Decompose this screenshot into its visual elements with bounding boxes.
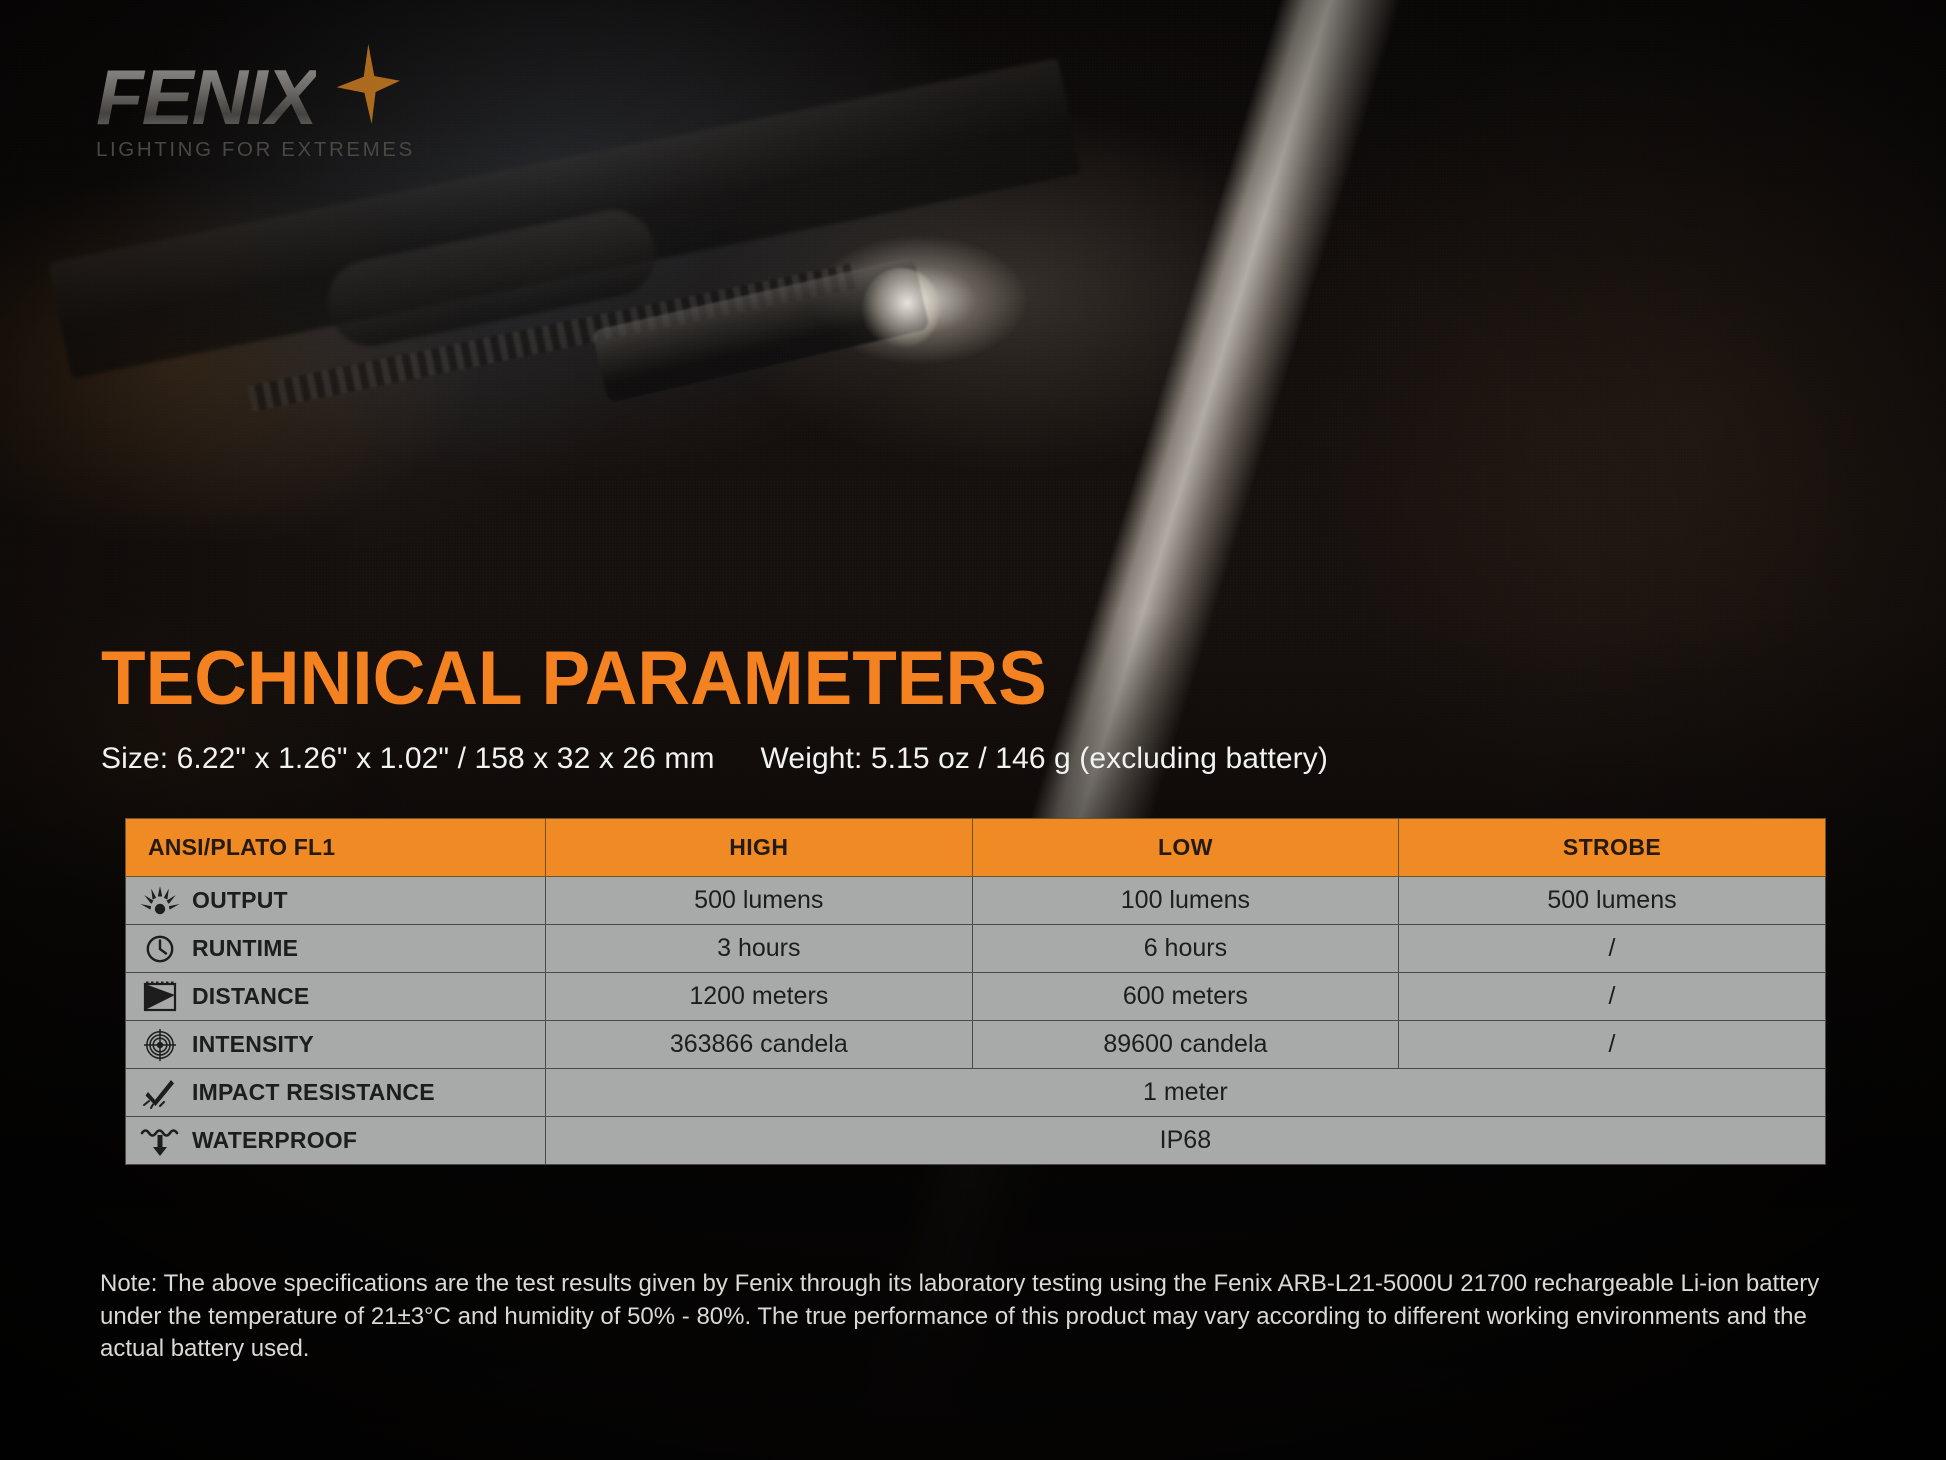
column-header-standard: ANSI/PLATO FL1 — [126, 819, 546, 877]
cell-waterproof-value: IP68 — [546, 1117, 1826, 1165]
logo-tagline: LIGHTING FOR EXTREMES — [96, 138, 456, 162]
specifications-table: ANSI/PLATO FL1 HIGH LOW STROBE — [125, 818, 1826, 1165]
weight-text: Weight: 5.15 oz / 146 g (excluding batte… — [761, 742, 1328, 775]
fenix-logo: FENIX LIGHTING FOR EXTREMES — [96, 62, 456, 162]
cell-intensity-low: 89600 candela — [972, 1021, 1399, 1069]
column-header-high: HIGH — [546, 819, 973, 877]
table-row: DISTANCE 1200 meters 600 meters / — [126, 973, 1826, 1021]
cell-distance-strobe: / — [1399, 973, 1826, 1021]
beam-icon — [140, 980, 180, 1014]
logo-wordmark: FENIX — [96, 62, 316, 134]
waterproof-icon — [140, 1124, 180, 1158]
cell-runtime-strobe: / — [1399, 925, 1826, 973]
cell-distance-low: 600 meters — [972, 973, 1399, 1021]
footnote: Note: The above specifications are the t… — [100, 1268, 1830, 1366]
row-label-text: OUTPUT — [192, 887, 288, 914]
row-label-impact-resistance: IMPACT RESISTANCE — [126, 1069, 546, 1117]
table-row: INTENSITY 363866 candela 89600 candela / — [126, 1021, 1826, 1069]
row-label-text: DISTANCE — [192, 983, 309, 1010]
technical-parameters-page: FENIX LIGHTING FOR EXTREMES TECHNICAL PA… — [0, 0, 1946, 1460]
cell-runtime-low: 6 hours — [972, 925, 1399, 973]
cell-impact-resistance-value: 1 meter — [546, 1069, 1826, 1117]
cell-output-high: 500 lumens — [546, 877, 973, 925]
table-row: OUTPUT 500 lumens 100 lumens 500 lumens — [126, 877, 1826, 925]
clock-icon — [140, 932, 180, 966]
cell-intensity-strobe: / — [1399, 1021, 1826, 1069]
column-header-strobe: STROBE — [1399, 819, 1826, 877]
background-vignette — [0, 0, 1946, 1460]
row-label-intensity: INTENSITY — [126, 1021, 546, 1069]
cell-output-strobe: 500 lumens — [1399, 877, 1826, 925]
size-weight-line: Size: 6.22" x 1.26" x 1.02" / 158 x 32 x… — [101, 742, 1328, 776]
cell-output-low: 100 lumens — [972, 877, 1399, 925]
row-label-text: RUNTIME — [192, 935, 298, 962]
table-row: RUNTIME 3 hours 6 hours / — [126, 925, 1826, 973]
row-label-text: INTENSITY — [192, 1031, 314, 1058]
table-header-row: ANSI/PLATO FL1 HIGH LOW STROBE — [126, 819, 1826, 877]
page-title: TECHNICAL PARAMETERS — [101, 641, 1047, 717]
table-row: IMPACT RESISTANCE 1 meter — [126, 1069, 1826, 1117]
row-label-waterproof: WATERPROOF — [126, 1117, 546, 1165]
row-label-text: WATERPROOF — [192, 1127, 357, 1154]
row-label-text: IMPACT RESISTANCE — [192, 1079, 435, 1106]
target-icon — [140, 1028, 180, 1062]
column-header-low: LOW — [972, 819, 1399, 877]
sunburst-icon — [140, 884, 180, 918]
impact-icon — [140, 1076, 180, 1110]
cell-runtime-high: 3 hours — [546, 925, 973, 973]
table-row: WATERPROOF IP68 — [126, 1117, 1826, 1165]
cell-distance-high: 1200 meters — [546, 973, 973, 1021]
row-label-runtime: RUNTIME — [126, 925, 546, 973]
size-text: Size: 6.22" x 1.26" x 1.02" / 158 x 32 x… — [101, 742, 715, 775]
row-label-distance: DISTANCE — [126, 973, 546, 1021]
cell-intensity-high: 363866 candela — [546, 1021, 973, 1069]
row-label-output: OUTPUT — [126, 877, 546, 925]
